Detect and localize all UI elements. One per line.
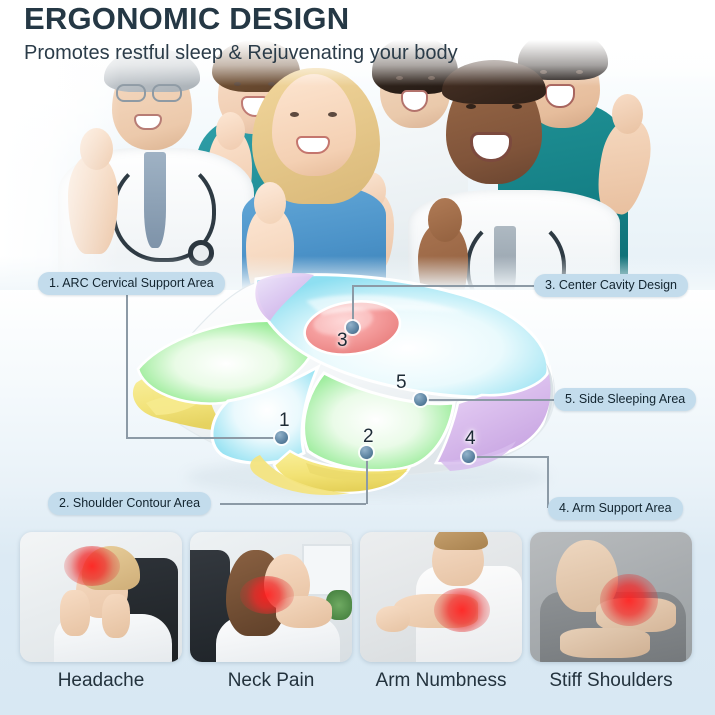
callout-label-5[interactable]: 5. Side Sleeping Area [554, 388, 696, 411]
leader-line-1-horizontal [126, 437, 282, 439]
photo-stiff-shoulders [530, 532, 692, 662]
symptom-card-arm-numbness[interactable] [360, 532, 522, 662]
pain-highlight [600, 574, 658, 626]
leader-line-1-vertical [126, 288, 128, 438]
header: ERGONOMIC DESIGN Promotes restful sleep … [24, 0, 458, 66]
photo-neck-pain [190, 532, 352, 662]
marker-number-1: 1 [279, 410, 290, 432]
marker-number-4: 4 [465, 428, 476, 450]
photo-headache [20, 532, 182, 662]
marker-number-3: 3 [337, 330, 348, 352]
leader-line-2-horizontal [220, 503, 366, 505]
photo-arm-numbness [360, 532, 522, 662]
marker-dot-1[interactable] [275, 431, 288, 444]
marker-number-2: 2 [363, 426, 374, 448]
page-subtitle: Promotes restful sleep & Rejuvenating yo… [24, 36, 458, 66]
pain-highlight [64, 546, 120, 586]
symptom-label-neck-pain: Neck Pain [190, 670, 352, 692]
symptom-cards-row: Headache Neck Pain [0, 528, 715, 715]
symptom-label-stiff-shoulders: Stiff Shoulders [530, 670, 692, 692]
leader-line-3-horizontal [352, 285, 534, 287]
infographic-page: ERGONOMIC DESIGN Promotes restful sleep … [0, 0, 715, 715]
symptom-card-stiff-shoulders[interactable] [530, 532, 692, 662]
leader-line-2-vertical [366, 452, 368, 504]
callout-label-1[interactable]: 1. ARC Cervical Support Area [38, 272, 225, 295]
symptom-label-arm-numbness: Arm Numbness [360, 670, 522, 692]
callout-label-3[interactable]: 3. Center Cavity Design [534, 274, 688, 297]
leader-line-5-horizontal [420, 399, 554, 401]
leader-line-4-horizontal [468, 456, 548, 458]
callout-label-2[interactable]: 2. Shoulder Contour Area [48, 492, 211, 515]
leader-line-4-vertical [547, 456, 549, 508]
pain-highlight [434, 588, 490, 632]
marker-number-5: 5 [396, 372, 407, 394]
pain-highlight [240, 576, 294, 614]
symptom-card-neck-pain[interactable] [190, 532, 352, 662]
symptom-card-headache[interactable] [20, 532, 182, 662]
glasses-icon [116, 84, 146, 102]
callout-label-4[interactable]: 4. Arm Support Area [548, 497, 683, 520]
symptom-label-headache: Headache [20, 670, 182, 692]
marker-dot-4[interactable] [462, 450, 475, 463]
page-title: ERGONOMIC DESIGN [24, 0, 458, 36]
marker-dot-5[interactable] [414, 393, 427, 406]
